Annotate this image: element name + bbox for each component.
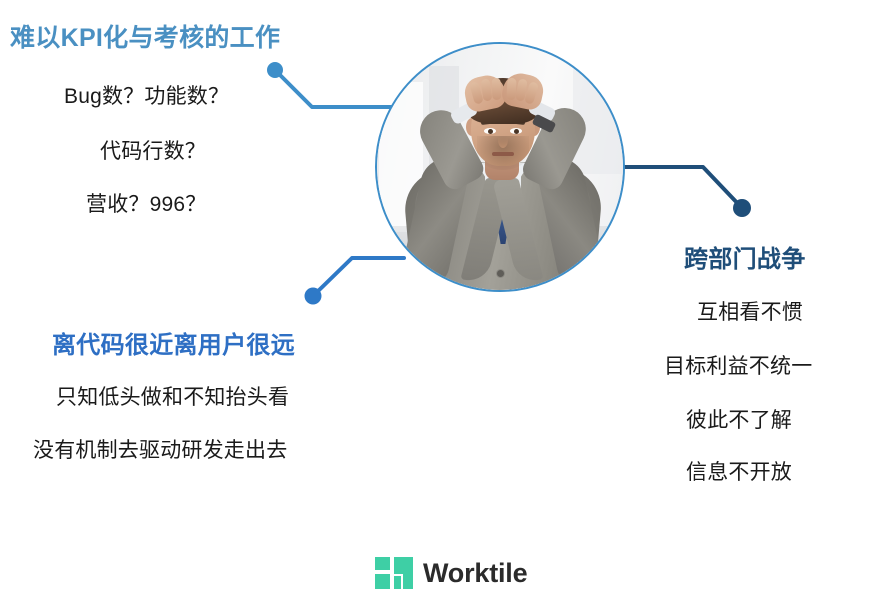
slide-canvas: 难以KPI化与考核的工作 Bug数？功能数？ 代码行数？ 营收？996？ 离代码…: [0, 0, 877, 600]
code-line-1: 只知低头做和不知抬头看: [56, 381, 289, 411]
man-figure: [377, 44, 623, 290]
connector-code-dot: [305, 288, 322, 305]
heading-code-distance: 离代码很近离用户很远: [52, 325, 295, 360]
kpi-line-3: 营收？996？: [86, 188, 206, 218]
heading-kpi: 难以KPI化与考核的工作: [10, 18, 280, 54]
worktile-logo-text: Worktile: [423, 558, 527, 589]
code-line-2: 没有机制去驱动研发走出去: [33, 434, 287, 464]
war-line-3: 彼此不了解: [686, 404, 792, 434]
war-line-2: 目标利益不统一: [664, 350, 812, 380]
heading-cross-department-war: 跨部门战争: [684, 239, 806, 274]
connector-war: [622, 167, 751, 217]
worktile-logo: Worktile: [375, 557, 527, 589]
connector-war-dot: [733, 199, 751, 217]
kpi-line-1: Bug数？功能数？: [64, 80, 229, 110]
connector-kpi-dot: [267, 62, 283, 78]
connector-kpi: [267, 62, 392, 107]
stressed-businessman-photo: [377, 44, 623, 290]
worktile-logo-mark-icon: [375, 557, 413, 589]
kpi-line-2: 代码行数？: [100, 135, 206, 165]
war-line-4: 信息不开放: [686, 456, 792, 486]
war-line-1: 互相看不惯: [697, 296, 803, 326]
center-photo-circle: [375, 42, 625, 292]
